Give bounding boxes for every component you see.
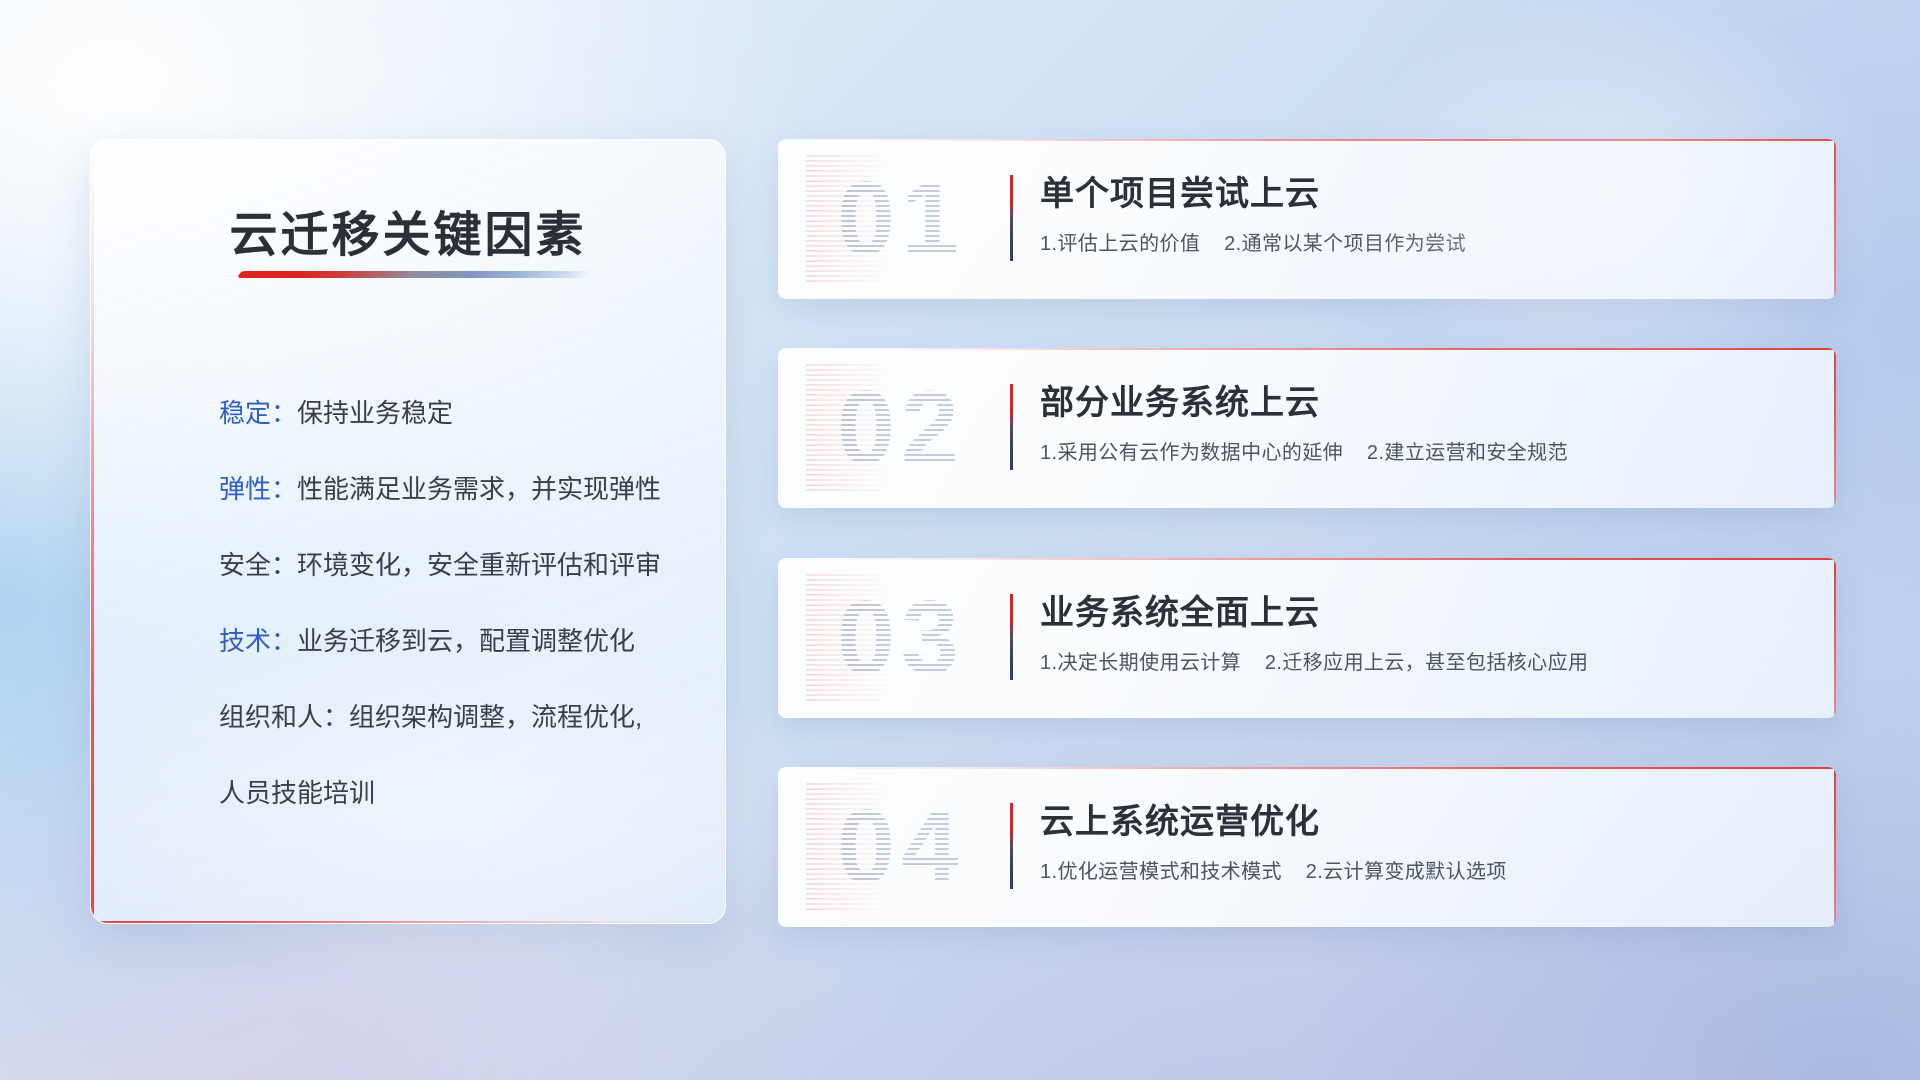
factor-label: 稳定： [219,398,297,428]
stage-accent-bar [1010,803,1013,889]
stage-number: 02 [806,364,996,492]
factor-item: 技术：业务迁移到云，配置调整优化 [219,603,685,679]
factor-label: 组织和人： [219,702,349,732]
stage-text-block: 单个项目尝试上云 1.评估上云的价值 2.通常以某个项目作为尝试 [1040,171,1806,258]
stage-accent-bar [1010,175,1013,261]
card-right-accent-line [1834,348,1836,508]
card-top-accent-line [778,139,1836,141]
factor-label: 安全： [219,550,297,580]
factor-text: 组织架构调整，流程优化, [349,702,642,732]
page-title: 云迁移关键因素 [91,195,725,265]
stage-accent-bar [1010,384,1013,470]
card-right-accent-line [1834,139,1836,299]
stage-card-04[interactable]: 04 云上系统运营优化 1.优化运营模式和技术模式 2.云计算变成默认选项 [778,767,1836,927]
card-right-accent-line [1834,767,1836,927]
stage-card-03[interactable]: 03 业务系统全面上云 1.决定长期使用云计算 2.迁移应用上云，甚至包括核心应… [778,558,1836,718]
stage-text-block: 云上系统运营优化 1.优化运营模式和技术模式 2.云计算变成默认选项 [1040,799,1806,886]
card-top-accent-line [778,558,1836,560]
factor-list: 稳定：保持业务稳定 弹性：性能满足业务需求，并实现弹性 安全：环境变化，安全重新… [219,375,685,831]
stage-number: 01 [806,155,996,283]
factor-text: 业务迁移到云，配置调整优化 [297,626,635,656]
stage-number: 03 [806,574,996,702]
factor-text: 性能满足业务需求，并实现弹性 [297,474,661,504]
stage-subtitle: 1.优化运营模式和技术模式 2.云计算变成默认选项 [1040,858,1806,886]
stage-card-02[interactable]: 02 部分业务系统上云 1.采用公有云作为数据中心的延伸 2.建立运营和安全规范 [778,348,1836,508]
factor-text: 保持业务稳定 [297,398,453,428]
factor-label: 弹性： [219,474,297,504]
card-bottom-accent-line [91,921,725,924]
stage-subtitle: 1.决定长期使用云计算 2.迁移应用上云，甚至包括核心应用 [1040,649,1806,677]
factor-text: 人员技能培训 [219,778,375,808]
factor-label: 技术： [219,626,297,656]
stage-text-block: 业务系统全面上云 1.决定长期使用云计算 2.迁移应用上云，甚至包括核心应用 [1040,590,1806,677]
stage-subtitle: 1.评估上云的价值 2.通常以某个项目作为尝试 [1040,230,1806,258]
factor-item-continuation: 人员技能培训 [219,755,685,831]
stage-title: 业务系统全面上云 [1040,590,1806,636]
factor-item: 弹性：性能满足业务需求，并实现弹性 [219,451,685,527]
stage-card-01[interactable]: 01 单个项目尝试上云 1.评估上云的价值 2.通常以某个项目作为尝试 [778,139,1836,299]
factor-text: 环境变化，安全重新评估和评审 [297,550,661,580]
card-right-accent-line [1834,558,1836,718]
factor-item: 组织和人：组织架构调整，流程优化, [219,679,685,755]
factor-item: 稳定：保持业务稳定 [219,375,685,451]
key-factors-card: 云迁移关键因素 稳定：保持业务稳定 弹性：性能满足业务需求，并实现弹性 安全：环… [90,139,726,924]
stage-text-block: 部分业务系统上云 1.采用公有云作为数据中心的延伸 2.建立运营和安全规范 [1040,380,1806,467]
slide-root: 云迁移关键因素 稳定：保持业务稳定 弹性：性能满足业务需求，并实现弹性 安全：环… [0,0,1920,1080]
stage-number: 04 [806,783,996,911]
stage-title: 单个项目尝试上云 [1040,171,1806,217]
stage-accent-bar [1010,594,1013,680]
stage-title: 云上系统运营优化 [1040,799,1806,845]
stage-subtitle: 1.采用公有云作为数据中心的延伸 2.建立运营和安全规范 [1040,439,1806,467]
stage-title: 部分业务系统上云 [1040,380,1806,426]
title-underline-rule [237,271,593,278]
card-top-accent-line [778,348,1836,350]
card-top-accent-line [778,767,1836,769]
factor-item: 安全：环境变化，安全重新评估和评审 [219,527,685,603]
